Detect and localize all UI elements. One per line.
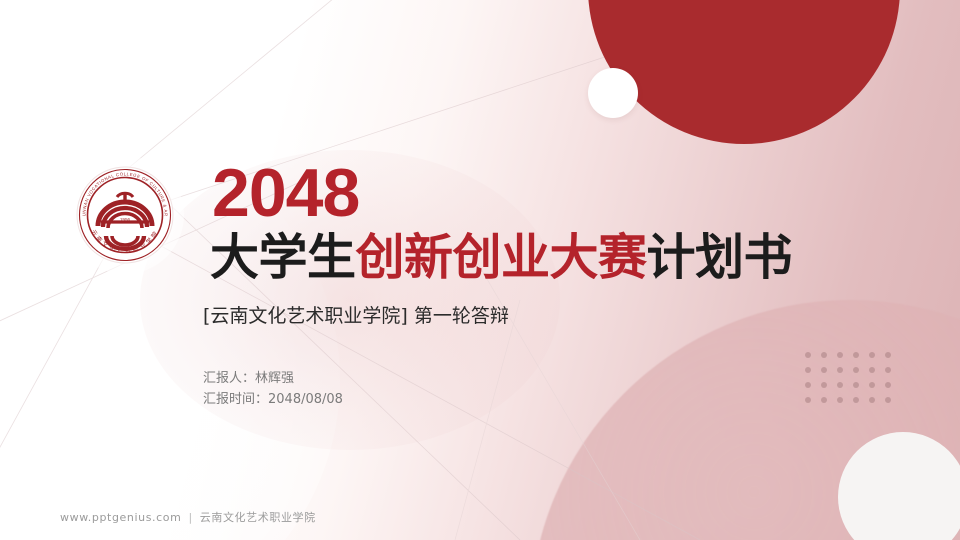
- slide-footer: www.pptgenius.com|云南文化艺术职业学院: [60, 510, 316, 526]
- footer-separator: |: [188, 511, 192, 524]
- decor-circle-white-small: [588, 68, 638, 118]
- meta-report-date: 汇报时间：2048/08/08: [203, 389, 343, 410]
- headline-highlight: 创新创业大赛: [356, 229, 647, 286]
- slide-meta: 汇报人：林辉强 汇报时间：2048/08/08: [203, 368, 343, 410]
- logo-year-mark: 1956: [120, 217, 131, 222]
- logo-seal-icon: YUNNAN VOCATIONAL COLLEGE OF CULTURE & A…: [76, 166, 174, 264]
- slide-headline: 大学生创新创业大赛计划书: [210, 230, 792, 286]
- decor-dot-grid: [805, 352, 901, 412]
- university-logo: YUNNAN VOCATIONAL COLLEGE OF CULTURE & A…: [76, 166, 174, 264]
- presentation-cover-slide: YUNNAN VOCATIONAL COLLEGE OF CULTURE & A…: [0, 0, 960, 540]
- slide-year: 2048: [212, 159, 359, 227]
- slide-subtitle: [云南文化艺术职业学院] 第一轮答辩: [203, 303, 509, 329]
- footer-institution: 云南文化艺术职业学院: [200, 511, 316, 524]
- headline-prefix: 大学生: [210, 229, 356, 286]
- headline-suffix: 计划书: [647, 229, 793, 286]
- meta-presenter: 汇报人：林辉强: [203, 368, 343, 389]
- footer-website[interactable]: www.pptgenius.com: [60, 511, 181, 524]
